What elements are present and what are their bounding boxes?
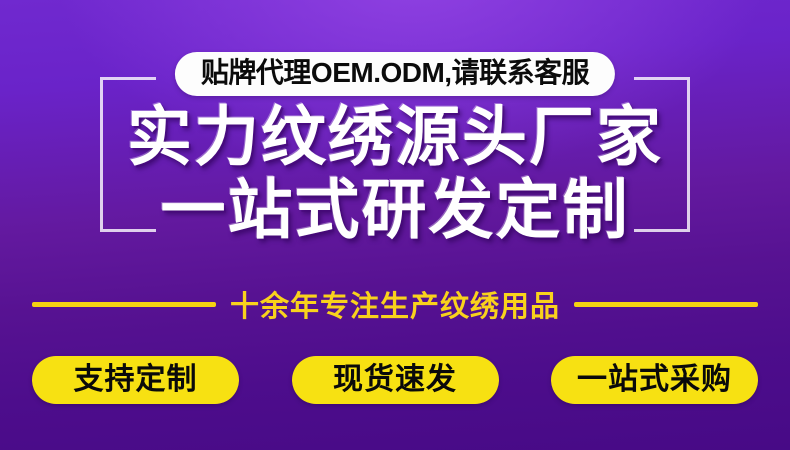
divider-rule-right: [574, 302, 758, 307]
feature-pill-onestop-label: 一站式采购: [577, 365, 732, 395]
divider-rule-left: [32, 302, 216, 307]
feature-pill-row: 支持定制 现货速发 一站式采购: [0, 356, 790, 404]
oem-odm-badge-label: 贴牌代理OEM.ODM,请联系客服: [201, 58, 589, 87]
feature-pill-onestop[interactable]: 一站式采购: [551, 356, 758, 404]
tagline-text: 十余年专注生产纹绣用品: [230, 283, 560, 325]
feature-pill-instock-label: 现货速发: [333, 365, 457, 395]
headline-line-2: 一站式研发定制: [0, 177, 790, 242]
tagline-divider: 十余年专注生产纹绣用品: [0, 283, 790, 325]
feature-pill-instock[interactable]: 现货速发: [292, 356, 499, 404]
promo-banner: 贴牌代理OEM.ODM,请联系客服 实力纹绣源头厂家 一站式研发定制 十余年专注…: [0, 0, 790, 450]
headline-block: 实力纹绣源头厂家 一站式研发定制: [0, 104, 790, 242]
oem-odm-badge: 贴牌代理OEM.ODM,请联系客服: [175, 52, 615, 96]
headline-line-1: 实力纹绣源头厂家: [0, 104, 790, 169]
feature-pill-custom-label: 支持定制: [74, 365, 198, 395]
feature-pill-custom[interactable]: 支持定制: [32, 356, 239, 404]
